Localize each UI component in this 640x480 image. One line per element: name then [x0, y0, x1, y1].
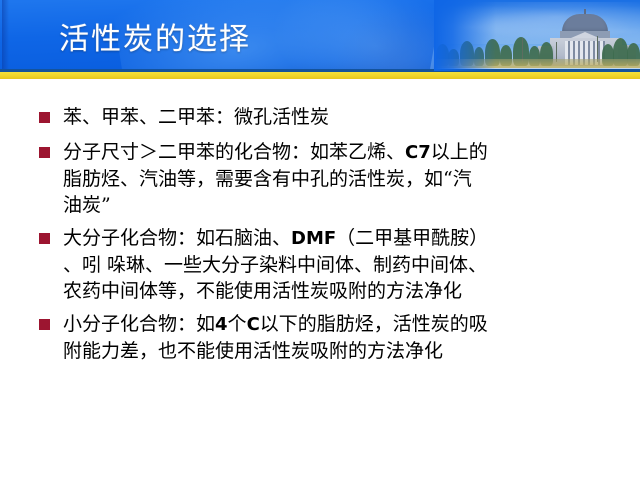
text-run: 大分子化合物：如石脑油、: [63, 227, 291, 249]
header-banner: 活性炭的选择: [0, 0, 640, 71]
text-line: 、吲 哚琳、一些大分子染料中间体、制药中间体、: [63, 252, 626, 278]
text-line: 苯、甲苯、二甲苯：微孔活性炭: [63, 104, 626, 130]
page-title: 活性炭的选择: [59, 20, 251, 60]
text-run: 农药中间体等，不能使用活性炭吸附的方法净化: [63, 280, 462, 302]
text-line: 附能力差，也不能使用活性炭吸附的方法净化: [63, 338, 626, 364]
photo-left-fade: [434, 0, 496, 71]
text-run: （二甲基甲酰胺）: [336, 227, 488, 249]
text-emphasis: DMF: [291, 228, 336, 249]
text-run: 苯、甲苯、二甲苯：微孔活性炭: [63, 106, 329, 128]
bullet-square-icon: [39, 112, 50, 123]
text-run: 以上的: [431, 141, 488, 163]
text-run: 、吲 哚琳、一些大分子染料中间体、制药中间体、: [63, 254, 487, 276]
campus-photo: [434, 0, 640, 71]
list-item-text: 小分子化合物：如4个C以下的脂肪烃，活性炭的吸附能力差，也不能使用活性炭吸附的方…: [63, 311, 626, 364]
text-line: 油炭”: [63, 192, 626, 218]
bullet-square-icon: [39, 147, 50, 158]
text-line: 分子尺寸＞二甲苯的化合物：如苯乙烯、C7以上的: [63, 139, 626, 166]
list-item-text: 分子尺寸＞二甲苯的化合物：如苯乙烯、C7以上的脂肪烃、汽油等，需要含有中孔的活性…: [63, 139, 626, 218]
bullet-square-icon: [39, 233, 50, 244]
text-run: 油炭”: [63, 194, 111, 216]
list-item-text: 苯、甲苯、二甲苯：微孔活性炭: [63, 104, 626, 130]
text-run: 小分子化合物：如: [63, 313, 215, 335]
text-line: 脂肪烃、汽油等，需要含有中孔的活性炭，如“汽: [63, 166, 626, 192]
text-run: 脂肪烃、汽油等，需要含有中孔的活性炭，如“汽: [63, 168, 472, 190]
list-item: 分子尺寸＞二甲苯的化合物：如苯乙烯、C7以上的脂肪烃、汽油等，需要含有中孔的活性…: [0, 139, 640, 218]
slide: 活性炭的选择 苯、甲苯、二甲苯：微孔活性炭分子尺寸＞二甲苯的化合物：如苯乙烯、C…: [0, 0, 640, 480]
text-emphasis: 4: [215, 314, 228, 335]
list-item: 苯、甲苯、二甲苯：微孔活性炭: [0, 104, 640, 130]
text-emphasis: C: [247, 314, 260, 335]
text-emphasis: C7: [405, 142, 431, 163]
bullet-list: 苯、甲苯、二甲苯：微孔活性炭分子尺寸＞二甲苯的化合物：如苯乙烯、C7以上的脂肪烃…: [0, 104, 640, 371]
text-run: 以下的脂肪烃，活性炭的吸: [260, 313, 488, 335]
banner-edge-shade-left: [2, 0, 9, 71]
text-line: 大分子化合物：如石脑油、DMF（二甲基甲酰胺）: [63, 225, 626, 252]
text-run: 附能力差，也不能使用活性炭吸附的方法净化: [63, 340, 443, 362]
list-item: 大分子化合物：如石脑油、DMF（二甲基甲酰胺）、吲 哚琳、一些大分子染料中间体、…: [0, 225, 640, 304]
list-item-text: 大分子化合物：如石脑油、DMF（二甲基甲酰胺）、吲 哚琳、一些大分子染料中间体、…: [63, 225, 626, 304]
list-item: 小分子化合物：如4个C以下的脂肪烃，活性炭的吸附能力差，也不能使用活性炭吸附的方…: [0, 311, 640, 364]
divider-gold: [0, 72, 640, 79]
bullet-square-icon: [39, 319, 50, 330]
text-line: 小分子化合物：如4个C以下的脂肪烃，活性炭的吸: [63, 311, 626, 338]
text-run: 个: [228, 313, 247, 335]
text-line: 农药中间体等，不能使用活性炭吸附的方法净化: [63, 278, 626, 304]
text-run: 分子尺寸＞二甲苯的化合物：如苯乙烯、: [63, 141, 405, 163]
